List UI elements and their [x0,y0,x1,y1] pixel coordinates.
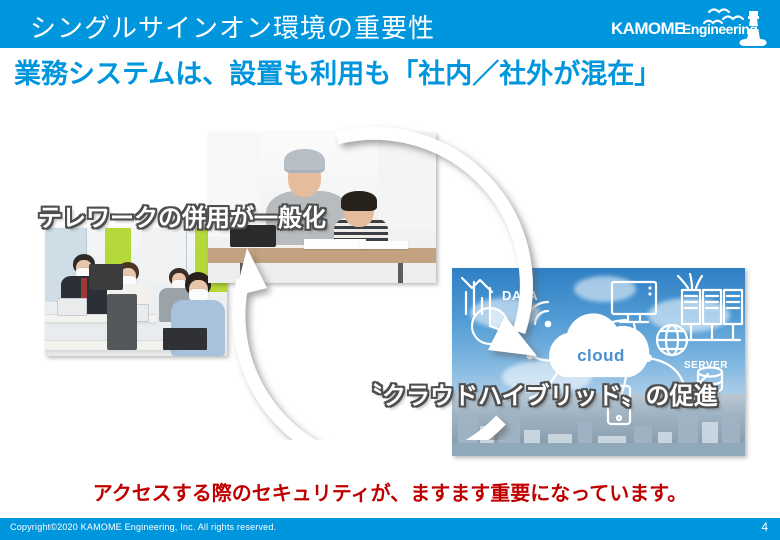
server-label: SERVER [684,360,728,371]
server-rack-icon [678,274,742,340]
telework-papers [360,241,408,249]
office-monitor [89,264,123,290]
logo-name-main: KAMOME [611,19,685,38]
data-label: DATA [502,288,538,303]
pie-chart-icon [472,308,508,344]
telework-table-leg-1 [240,263,245,283]
label-cloud-hybrid: 〝クラウドハイブリッド〟の促進 [358,376,718,411]
logo-svg: KAMOME Engineering [597,2,772,48]
bottom-key-message: アクセスする際のセキュリティが、ますます重要になっています。 [0,477,780,506]
telework-notebook [304,239,366,249]
slide-subtitle: 業務システムは、設置も利用も「社内／社外が混在」 [14,52,774,92]
footer-bar: Copyright©2020 KAMOME Engineering, Inc. … [0,518,780,540]
wifi-icon [526,302,551,327]
page-title: シングルサインオン環境の重要性 [30,8,435,45]
telework-table-leg-2 [398,263,403,283]
globe-icon [657,325,687,355]
monitor-icon [612,282,656,322]
telework-wall-right [378,133,436,229]
office-laptop-1 [57,298,87,316]
office-laptop-3 [163,328,207,350]
logo-name-sub: Engineering [682,21,757,37]
label-telework-common: テレワークの併用が一般化 [38,198,326,233]
photo-cloud-hybrid: cloud DATA SERVER [452,268,745,456]
cloud-label: cloud [560,346,642,366]
footer-copyright: Copyright©2020 KAMOME Engineering, Inc. … [10,522,276,532]
kamome-engineering-logo: KAMOME Engineering [597,2,772,48]
office-divider-panel [107,294,137,350]
footer-page-number: 4 [761,520,768,534]
header-bar: シングルサインオン環境の重要性 KAMOME Engineering [0,0,780,48]
photo-office-workers [45,228,227,356]
